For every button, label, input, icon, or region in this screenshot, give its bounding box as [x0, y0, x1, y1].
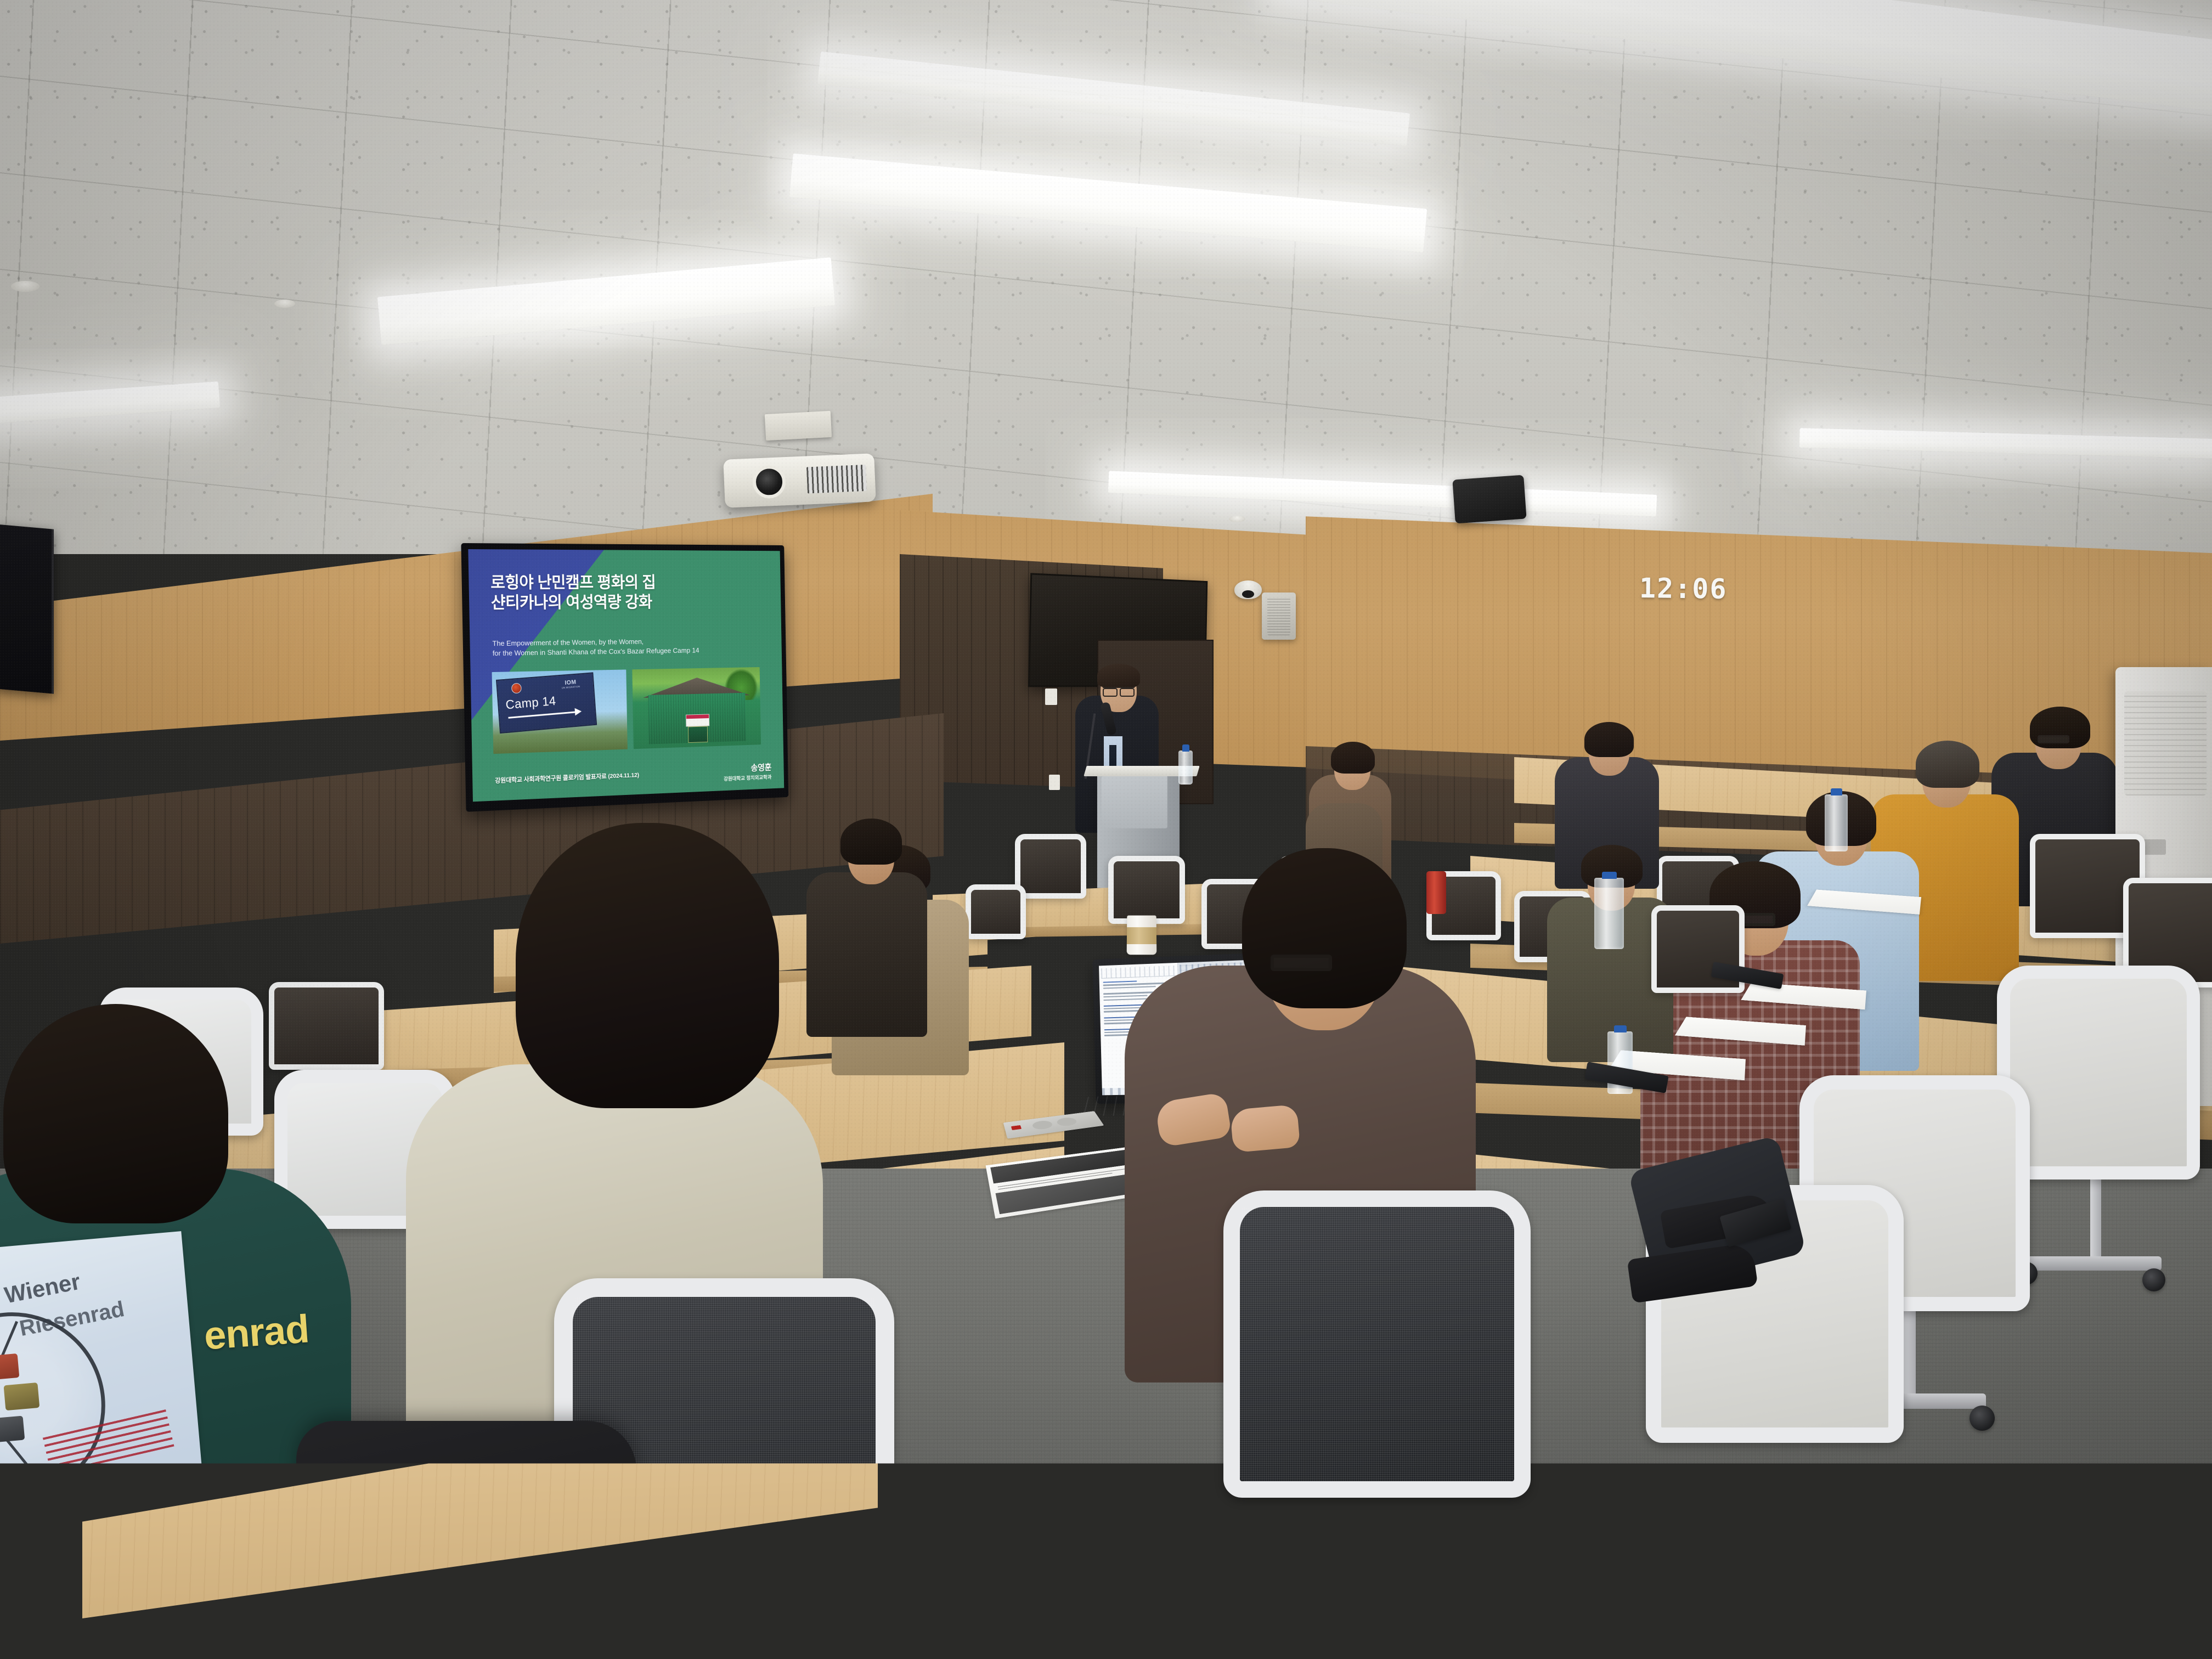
lectern-front-panel: [1102, 775, 1167, 828]
jacket-on-chair: [296, 1421, 636, 1659]
chair-mesh: [1240, 1207, 1514, 1481]
ceiling-projector-icon: [723, 453, 876, 507]
dome-security-camera-icon: [1234, 580, 1262, 599]
attendee-hair: [1331, 742, 1375, 774]
meeting-chair[interactable]: [269, 982, 384, 1070]
paper-coffee-cup[interactable]: [1127, 916, 1157, 955]
projector-vent: [806, 465, 867, 493]
attendee-hair: [3, 1004, 228, 1223]
iom-badge-icon: [511, 682, 522, 693]
presenter-hair: [1097, 664, 1140, 688]
attendee-hair: [1916, 741, 1979, 788]
smoke-detector-icon: [274, 300, 295, 308]
slide-subtitle: The Empowerment of the Women, by the Wom…: [492, 636, 719, 659]
slide-photo-row: IOM UN MIGRATION Camp 14: [492, 667, 761, 754]
shelter-wall: [648, 693, 746, 744]
chair-column: [2090, 1174, 2101, 1262]
shelter-signboard: [686, 714, 709, 726]
water-bottle-icon[interactable]: [1825, 794, 1848, 851]
attendee-hair: [516, 823, 779, 1108]
slide-title-line-1: 로힝야 난민캠프 평화의 집: [490, 573, 687, 593]
hand: [1230, 1104, 1300, 1153]
office-chair[interactable]: [1223, 1190, 1531, 1498]
wall-speaker-icon: [1262, 592, 1296, 640]
outlet-power-switch[interactable]: [1011, 1125, 1022, 1130]
chair-base: [2024, 1256, 2162, 1271]
thermos-bottle-icon[interactable]: [1426, 871, 1446, 914]
chair-caster: [1426, 1591, 1455, 1620]
tshirt-graphic-print: Wiener Riesenrad: [0, 1231, 203, 1501]
glasses-icon: [1271, 955, 1332, 971]
slide-photo-camp-sign: IOM UN MIGRATION Camp 14: [492, 669, 628, 753]
attendee-hair: [1584, 722, 1634, 757]
chair-caster: [2142, 1268, 2165, 1291]
slide-title: 로힝야 난민캠프 평화의 집 샨티카나의 여성역량 강화: [490, 573, 687, 613]
glasses-icon: [1103, 687, 1135, 693]
smoke-detector-icon: [1229, 516, 1245, 522]
projector-mount: [765, 411, 832, 441]
iom-logo: IOM UN MIGRATION: [561, 679, 580, 690]
shelter-sign-band: [686, 715, 709, 719]
slide-footer-presenter: 송영훈 강원대학교 정치외교학과: [724, 760, 772, 782]
chair-column: [1904, 1306, 1916, 1404]
chair-caster: [1267, 1585, 1296, 1614]
chair-column: [1355, 1492, 1369, 1591]
meeting-chair[interactable]: [1108, 856, 1185, 924]
tshirt-print-word: Wiener: [2, 1268, 82, 1309]
air-conditioner-vent: [2124, 691, 2207, 795]
clock-time: 12:06: [1639, 572, 1728, 605]
chair-backrest: [1223, 1190, 1531, 1498]
outlet-socket[interactable]: [1056, 1117, 1079, 1127]
shelter-door: [688, 726, 708, 743]
ceiling-mounted-speaker: [1452, 475, 1526, 524]
chair-caster: [1970, 1406, 1995, 1431]
meeting-chair[interactable]: [1015, 834, 1086, 899]
water-bottle-icon[interactable]: [1594, 878, 1624, 949]
slide-title-line-2: 샨티카나의 여성역량 강화: [491, 593, 687, 613]
glasses-icon: [2038, 735, 2069, 743]
attendee-hair: [1242, 848, 1407, 1008]
left-wall-display: [0, 524, 54, 693]
camp-direction-arrow-icon: [509, 712, 577, 719]
ferris-wheel-cabin: [4, 1383, 40, 1410]
presenter-name: 송영훈: [724, 760, 772, 775]
meeting-chair[interactable]: [966, 884, 1026, 939]
camp-signboard: IOM UN MIGRATION Camp 14: [496, 672, 597, 733]
cup-sleeve: [1127, 927, 1156, 945]
water-bottle-icon: [1178, 751, 1193, 785]
attendee-hair: [840, 819, 902, 865]
ferris-wheel-cabin: [0, 1353, 19, 1380]
attendee-body: [806, 872, 927, 1037]
light-switch-plate[interactable]: [1045, 689, 1057, 705]
ferris-wheel-cabin: [0, 1416, 25, 1443]
outlet-socket[interactable]: [1031, 1120, 1054, 1130]
chair-base: [1278, 1580, 1443, 1598]
camp-sign-label: Camp 14: [505, 693, 557, 712]
digital-wall-clock: 12:06: [1639, 572, 1728, 605]
seminar-room-photo: 12:06 로힝야 난민캠프 평화의 집 샨티카나의 여성역량 강화 The E…: [0, 0, 2212, 1659]
presentation-display[interactable]: 로힝야 난민캠프 평화의 집 샨티카나의 여성역량 강화 The Empower…: [461, 543, 788, 812]
iom-logo-text: IOM: [565, 679, 577, 686]
light-switch-plate[interactable]: [1049, 775, 1060, 790]
projector-lens: [752, 465, 786, 499]
slide-content: 로힝야 난민캠프 평화의 집 샨티카나의 여성역량 강화 The Empower…: [468, 549, 784, 802]
tshirt-embroidered-text: enrad: [202, 1306, 310, 1358]
smoke-detector-icon: [11, 281, 39, 292]
iom-logo-subtext: UN MIGRATION: [562, 685, 580, 689]
slide-photo-shelter: [632, 667, 761, 749]
